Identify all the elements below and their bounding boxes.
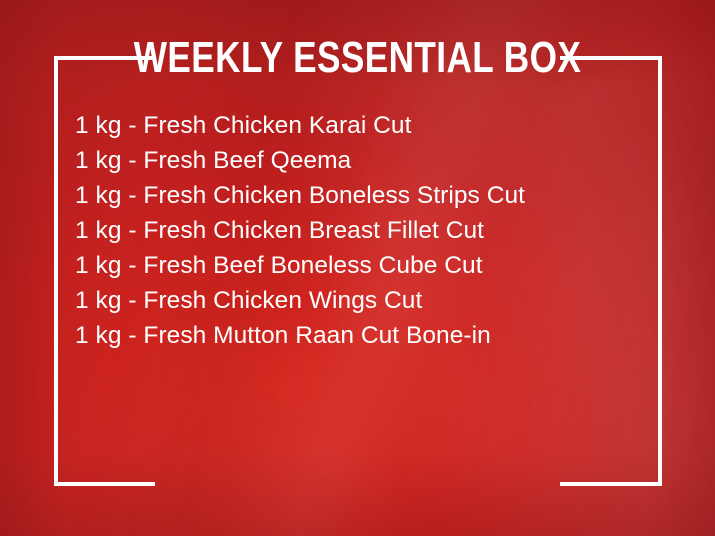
list-item: 1 kg - Fresh Chicken Boneless Strips Cut: [75, 178, 635, 213]
list-item: 1 kg - Fresh Chicken Breast Fillet Cut: [75, 213, 635, 248]
product-list: 1 kg - Fresh Chicken Karai Cut 1 kg - Fr…: [75, 108, 635, 353]
list-item: 1 kg - Fresh Beef Boneless Cube Cut: [75, 248, 635, 283]
list-item: 1 kg - Fresh Beef Qeema: [75, 143, 635, 178]
frame-right-vertical-rule: [658, 56, 662, 486]
frame-left-vertical-rule: [54, 56, 58, 486]
list-item: 1 kg - Fresh Mutton Raan Cut Bone-in: [75, 318, 635, 353]
list-item: 1 kg - Fresh Chicken Karai Cut: [75, 108, 635, 143]
frame-bottom-left-horizontal-rule: [54, 482, 155, 486]
promo-poster: Weekly Essential Box 1 kg - Fresh Chicke…: [0, 0, 715, 536]
frame-bottom-right-horizontal-rule: [560, 482, 662, 486]
list-item: 1 kg - Fresh Chicken Wings Cut: [75, 283, 635, 318]
poster-title: Weekly Essential Box: [72, 34, 644, 82]
